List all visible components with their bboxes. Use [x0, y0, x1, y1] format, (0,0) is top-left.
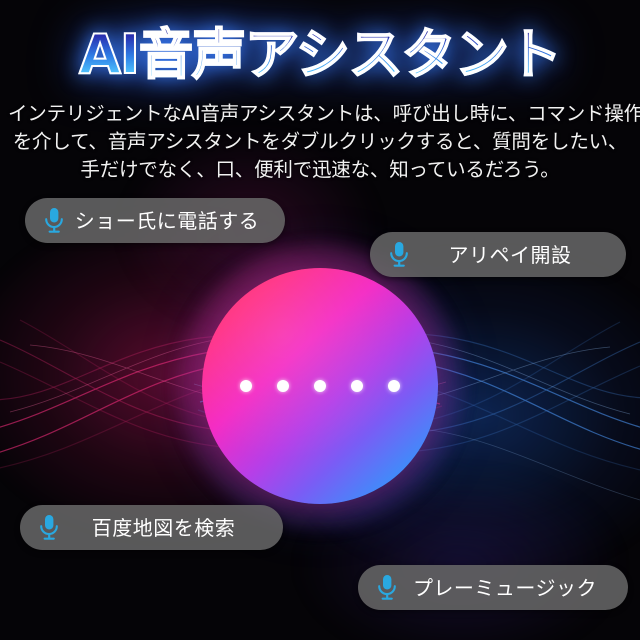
command-pill-alipay[interactable]: アリペイ開設 [370, 232, 626, 277]
page-title: AI音声アシスタント [0, 20, 640, 92]
command-pill-label: ショー氏に電話する [67, 210, 269, 232]
command-pill-call[interactable]: ショー氏に電話する [25, 198, 285, 243]
description-line-2: を介して、音声アシスタントをダブルクリックすると、質問をしたい、 [8, 128, 632, 156]
listening-dot [351, 380, 363, 392]
assistant-promo-banner: AI音声アシスタント インテリジェントなAI音声アシスタントは、呼び出し時に、コ… [0, 0, 640, 640]
microphone-icon [374, 573, 400, 603]
page-title-text: AI音声アシスタント [79, 20, 561, 90]
listening-dot [277, 380, 289, 392]
listening-dot [240, 380, 252, 392]
command-pill-music[interactable]: プレーミュージック [358, 565, 628, 610]
listening-dot [314, 380, 326, 392]
command-pill-label: プレーミュージック [400, 577, 612, 599]
command-pill-label: アリペイ開設 [412, 244, 610, 266]
listening-dot [388, 380, 400, 392]
listening-dots [202, 380, 438, 392]
microphone-icon [36, 513, 62, 543]
command-pill-map[interactable]: 百度地図を検索 [20, 505, 283, 550]
description-line-3: 手だけでなく、口、便利で迅速な、知っているだろう。 [8, 156, 632, 184]
description-line-1: インテリジェントなAI音声アシスタントは、呼び出し時に、コマンド操作 [8, 100, 632, 128]
assistant-orb[interactable] [202, 268, 438, 504]
description-block: インテリジェントなAI音声アシスタントは、呼び出し時に、コマンド操作 を介して、… [8, 100, 632, 184]
command-pill-label: 百度地図を検索 [62, 517, 267, 539]
microphone-icon [386, 240, 412, 270]
microphone-icon [41, 206, 67, 236]
